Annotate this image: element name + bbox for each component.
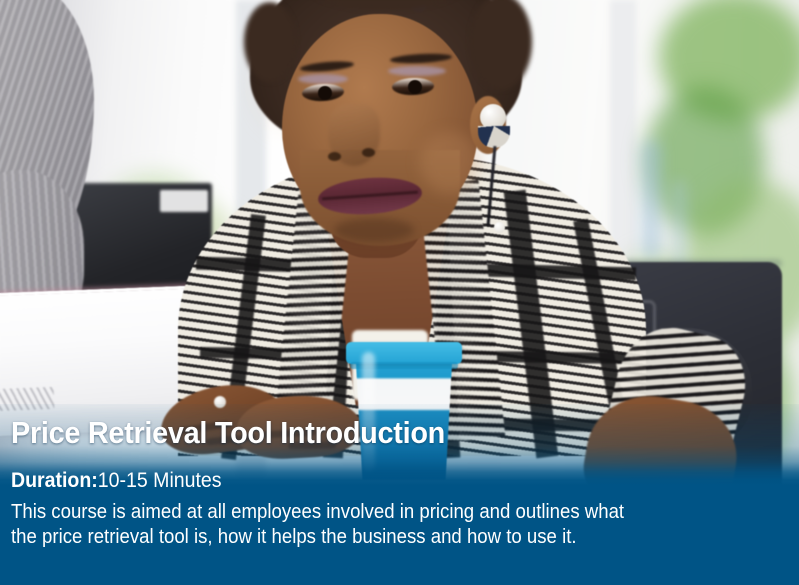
banner-text-layer: Price Retrieval Tool Introduction Durati… <box>0 404 799 585</box>
hair-volume <box>244 2 296 82</box>
earring-drop-bead <box>494 222 505 233</box>
eyeshadow-left <box>298 74 348 84</box>
page-title: Price Retrieval Tool Introduction <box>11 415 445 451</box>
window-glass-reflection <box>640 140 662 260</box>
course-description: This course is aimed at all employees in… <box>11 500 746 550</box>
face-cheek <box>420 132 480 194</box>
eyeshadow-right <box>388 66 446 76</box>
duration-value: 10-15 Minutes <box>98 469 222 492</box>
course-banner-card: Price Retrieval Tool Introduction Durati… <box>0 0 799 585</box>
duration-line: Duration:10-15 Minutes <box>11 468 222 494</box>
description-line-1: This course is aimed at all employees in… <box>11 500 746 525</box>
pupil-left <box>318 86 332 100</box>
monitor-sticker <box>160 190 208 212</box>
nostril-right <box>362 148 375 157</box>
duration-label: Duration: <box>11 469 98 492</box>
chin-shadow <box>334 218 414 242</box>
nostril-left <box>328 152 341 161</box>
description-line-2: the price retrieval tool is, how it help… <box>11 525 746 550</box>
pupil-right <box>408 80 422 94</box>
